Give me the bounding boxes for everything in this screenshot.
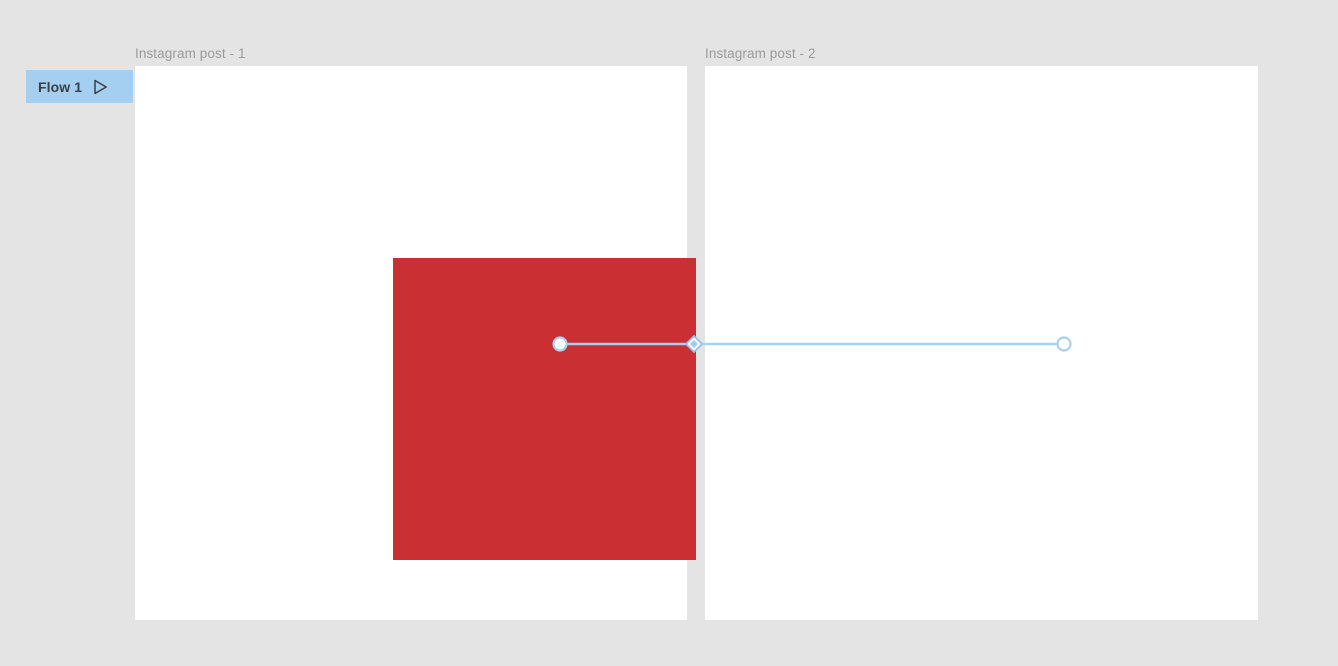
red-square-shape[interactable]	[393, 258, 696, 560]
play-triangle-icon[interactable]	[93, 79, 108, 95]
connector-source-handle-icon[interactable]	[554, 338, 567, 351]
flow-badge-label: Flow 1	[38, 80, 82, 94]
frame-instagram-post-1[interactable]	[135, 66, 687, 620]
flow-badge[interactable]: Flow 1	[26, 70, 133, 103]
frame-label-instagram-post-2[interactable]: Instagram post - 2	[705, 47, 816, 61]
frame-label-instagram-post-1[interactable]: Instagram post - 1	[135, 47, 246, 61]
design-canvas[interactable]: Instagram post - 1 Instagram post - 2 Fl…	[0, 0, 1338, 666]
frame-instagram-post-2[interactable]	[705, 66, 1258, 620]
connector-target-handle-icon[interactable]	[1058, 338, 1071, 351]
